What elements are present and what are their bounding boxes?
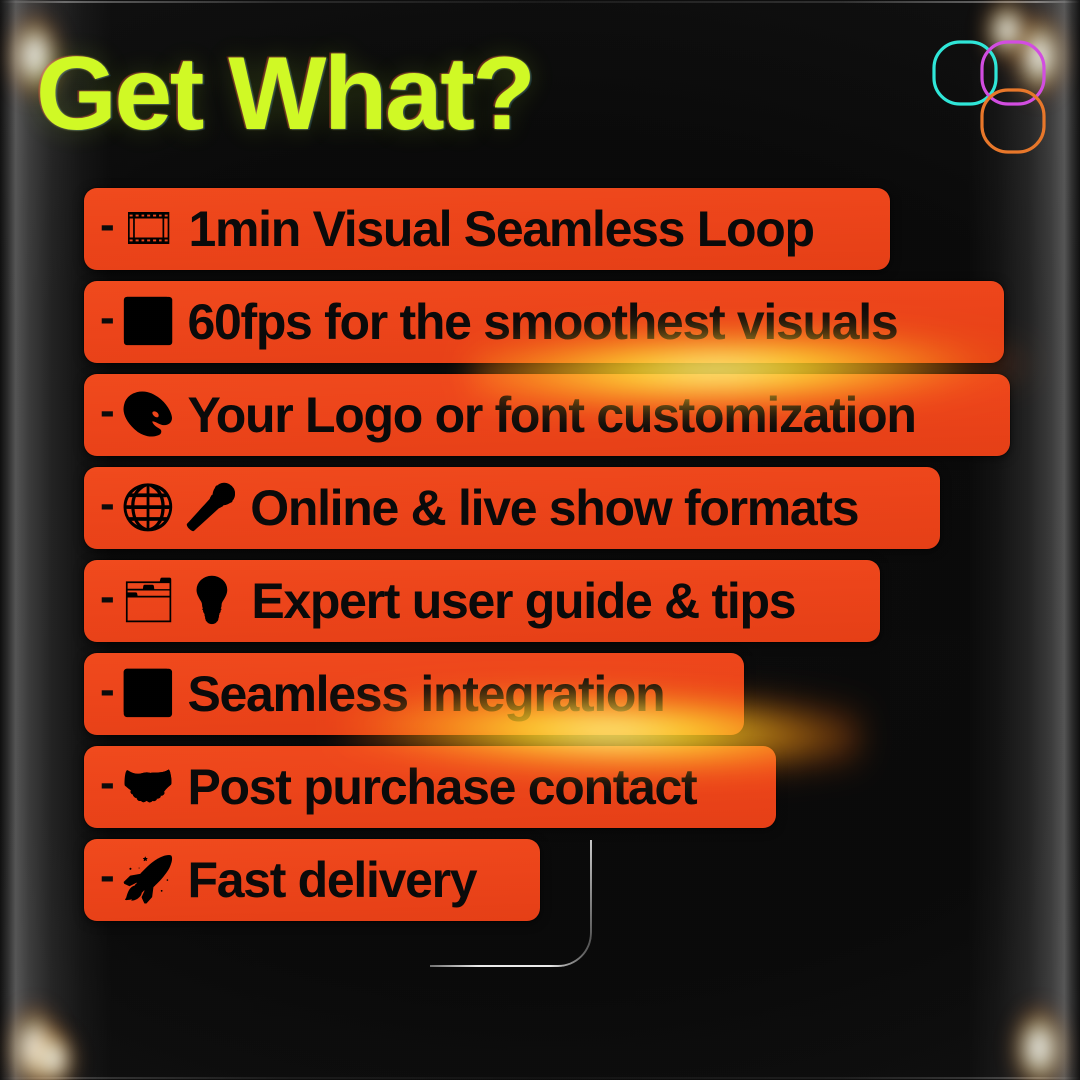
- feature-bar[interactable]: -🔀Seamless integration: [84, 653, 744, 735]
- globe-icon: 🌐: [121, 486, 176, 530]
- feature-icon-group: 🎞: [121, 207, 177, 251]
- feature-label: Post purchase contact: [187, 762, 696, 812]
- microphone-icon: 🎤: [183, 486, 238, 530]
- shuffle-icon: 🔀: [121, 672, 176, 716]
- poster-canvas: Get What? -🎞1min Visual Seamless Loop-⏩6…: [0, 0, 1080, 1080]
- feature-bar[interactable]: -🌐🎤Online & live show formats: [84, 467, 940, 549]
- three-rings-logo: [928, 28, 1052, 156]
- bullet-dash: -: [100, 203, 115, 247]
- feature-icon-group: 🗂💡: [121, 579, 240, 623]
- feature-icon-group: 🔀: [121, 672, 176, 716]
- feature-list: -🎞1min Visual Seamless Loop-⏩60fps for t…: [84, 188, 1010, 932]
- light-bulb-icon: 💡: [185, 579, 240, 623]
- feature-icon-group: 🤝: [121, 765, 176, 809]
- bullet-dash: -: [100, 389, 115, 433]
- feature-icon-group: 🎨: [121, 393, 176, 437]
- feature-label: 1min Visual Seamless Loop: [189, 204, 814, 254]
- feature-bar[interactable]: -🎞1min Visual Seamless Loop: [84, 188, 890, 270]
- feature-icon-group: ⏩: [121, 300, 176, 344]
- feature-bar[interactable]: -🤝Post purchase contact: [84, 746, 776, 828]
- feature-label: Your Logo or font customization: [187, 390, 915, 440]
- feature-label: Fast delivery: [187, 855, 476, 905]
- feature-bar[interactable]: -🎨Your Logo or font customization: [84, 374, 1010, 456]
- artist-palette-icon: 🎨: [121, 393, 176, 437]
- bullet-dash: -: [100, 854, 115, 898]
- feature-label: Online & live show formats: [250, 483, 858, 533]
- page-title: Get What?: [36, 42, 533, 146]
- bullet-dash: -: [100, 575, 115, 619]
- feature-label: 60fps for the smoothest visuals: [187, 297, 897, 347]
- feature-label: Expert user guide & tips: [251, 576, 795, 626]
- bullet-dash: -: [100, 296, 115, 340]
- feature-icon-group: 🚀: [121, 858, 176, 902]
- feature-bar[interactable]: -🚀Fast delivery: [84, 839, 540, 921]
- bullet-dash: -: [100, 761, 115, 805]
- logo-svg: [928, 28, 1052, 156]
- feature-bar[interactable]: -⏩60fps for the smoothest visuals: [84, 281, 1004, 363]
- card-index-dividers-icon: 🗂: [121, 579, 177, 623]
- rocket-icon: 🚀: [121, 858, 176, 902]
- handshake-icon: 🤝: [121, 765, 176, 809]
- feature-bar[interactable]: -🗂💡Expert user guide & tips: [84, 560, 880, 642]
- film-frames-icon: 🎞: [121, 207, 177, 251]
- feature-icon-group: 🌐🎤: [121, 486, 239, 530]
- feature-label: Seamless integration: [187, 669, 664, 719]
- bullet-dash: -: [100, 668, 115, 712]
- bullet-dash: -: [100, 482, 115, 526]
- fast-forward-icon: ⏩: [121, 300, 176, 344]
